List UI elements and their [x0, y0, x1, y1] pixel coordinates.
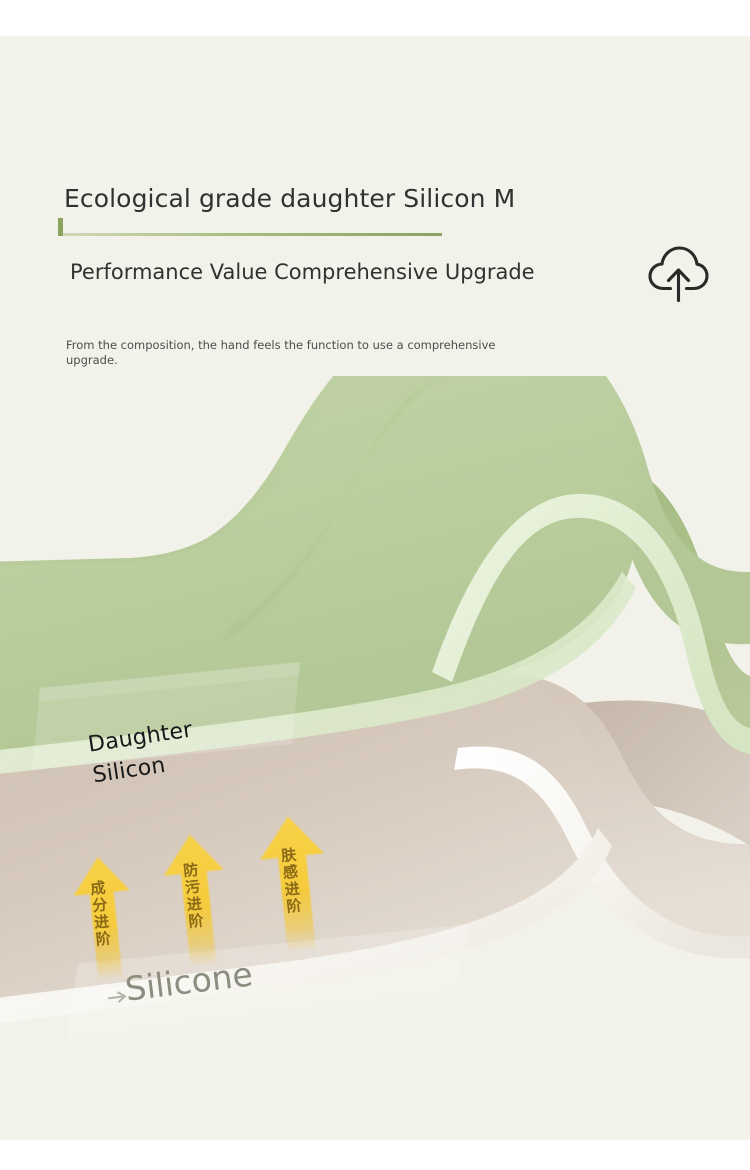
top-white-margin: [0, 0, 750, 36]
title-underline-line: [63, 233, 442, 236]
arrow-antifouling: 防污进阶: [155, 833, 232, 969]
arrow-composition-label: 成分进阶: [87, 879, 115, 949]
page-subtitle: Performance Value Comprehensive Upgrade: [70, 260, 535, 284]
product-detail-page: DaughterSilicon Silicone 成分进阶 防污进阶 肤感进阶 …: [0, 0, 750, 1170]
title-underline: [58, 218, 442, 238]
bottom-white-margin: [0, 1140, 750, 1170]
arrow-composition: 成分进阶: [64, 853, 138, 981]
arrow-skinfeel: 肤感进阶: [251, 817, 333, 957]
arrow-skinfeel-label: 肤感进阶: [277, 846, 305, 916]
page-description: From the composition, the hand feels the…: [66, 338, 498, 368]
cloud-upload-icon: [645, 242, 711, 306]
arrow-antifouling-label: 防污进阶: [179, 861, 207, 931]
content-panel: DaughterSilicon Silicone 成分进阶 防污进阶 肤感进阶 …: [0, 36, 750, 1140]
page-title: Ecological grade daughter Silicon M: [64, 184, 515, 213]
